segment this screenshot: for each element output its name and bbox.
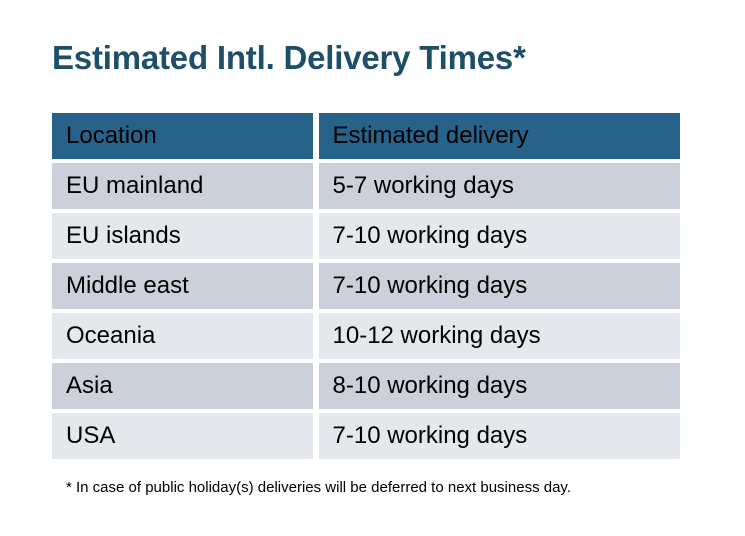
cell-delivery: 5-7 working days (319, 163, 681, 209)
footnote-text: * In case of public holiday(s) deliverie… (66, 478, 571, 498)
cell-delivery: 7-10 working days (319, 413, 681, 459)
table-row: EU islands 7-10 working days (52, 213, 680, 259)
cell-location: EU islands (52, 213, 313, 259)
column-header-estimated-delivery: Estimated delivery (319, 113, 681, 159)
column-header-location: Location (52, 113, 313, 159)
table-row: Asia 8-10 working days (52, 363, 680, 409)
cell-location: USA (52, 413, 313, 459)
table-row: Oceania 10-12 working days (52, 313, 680, 359)
table-row: EU mainland 5-7 working days (52, 163, 680, 209)
table-body: EU mainland 5-7 working days EU islands … (52, 163, 680, 459)
table-row: USA 7-10 working days (52, 413, 680, 459)
cell-location: EU mainland (52, 163, 313, 209)
cell-delivery: 7-10 working days (319, 263, 681, 309)
cell-delivery: 7-10 working days (319, 213, 681, 259)
table-header: Location Estimated delivery (52, 113, 680, 159)
cell-delivery: 10-12 working days (319, 313, 681, 359)
cell-delivery: 8-10 working days (319, 363, 681, 409)
cell-location: Oceania (52, 313, 313, 359)
cell-location: Middle east (52, 263, 313, 309)
table-row: Middle east 7-10 working days (52, 263, 680, 309)
delivery-times-table: Location Estimated delivery EU mainland … (46, 109, 686, 463)
cell-location: Asia (52, 363, 313, 409)
page-title: Estimated Intl. Delivery Times* (52, 38, 526, 78)
table-header-row: Location Estimated delivery (52, 113, 680, 159)
document-page: Estimated Intl. Delivery Times* Location… (0, 0, 745, 536)
